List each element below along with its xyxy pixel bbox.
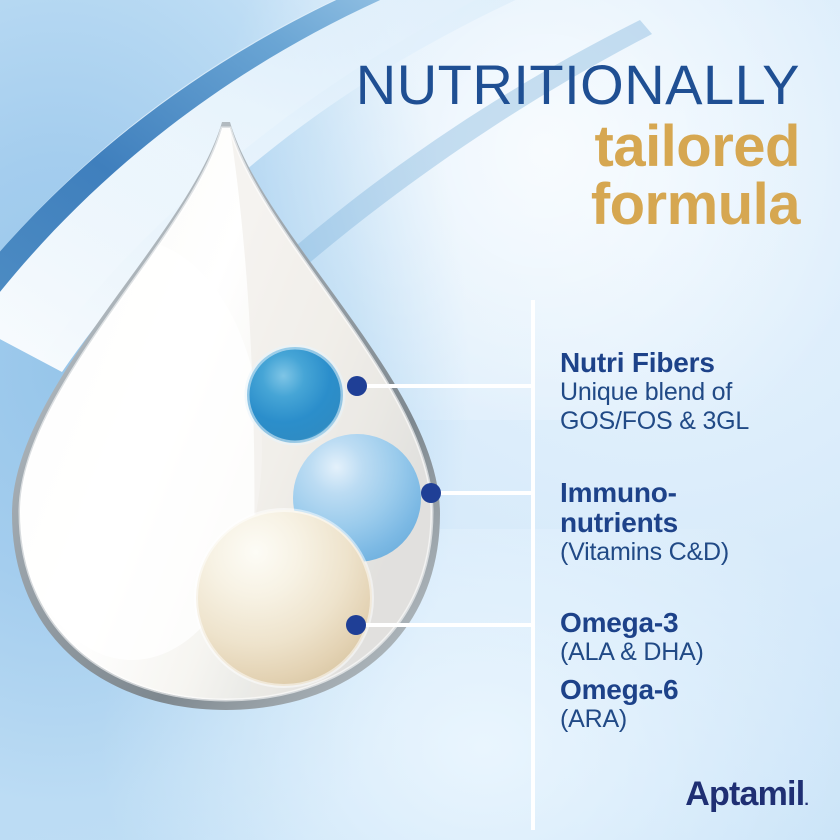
callout-sub-omega-6: (ARA) (560, 705, 704, 734)
callout-title-omega-6: Omega-6 (560, 675, 704, 705)
aptamil-logo: Aptamil. (685, 777, 808, 818)
callout-dot-nutri-fibers (347, 376, 367, 396)
callout-omega: Omega-3 (ALA & DHA) Omega-6 (ARA) (560, 608, 704, 734)
callout-title-omega-3: Omega-3 (560, 608, 704, 638)
callout-dot-omega (346, 615, 366, 635)
callout-immuno-nutrients: Immuno- nutrients (Vitamins C&D) (560, 478, 729, 567)
callout-title-immuno-line2: nutrients (560, 508, 729, 538)
callout-title-nutri-fibers: Nutri Fibers (560, 348, 749, 378)
callout-sub1-nutri-fibers: Unique blend of (560, 378, 749, 407)
callout-dot-immuno (421, 483, 441, 503)
callout-labels: Nutri Fibers Unique blend of GOS/FOS & 3… (560, 0, 840, 840)
callout-nutri-fibers: Nutri Fibers Unique blend of GOS/FOS & 3… (560, 348, 749, 436)
callout-title-immuno-line1: Immuno- (560, 478, 729, 508)
callout-sub-omega-3: (ALA & DHA) (560, 638, 704, 667)
poster-canvas: NUTRITIONALLY tailored formula Nutri Fib… (0, 0, 840, 840)
aptamil-trademark: . (804, 792, 808, 809)
aptamil-logo-text: Aptamil (685, 775, 804, 813)
callout-sub1-immuno: (Vitamins C&D) (560, 538, 729, 567)
callout-sub2-nutri-fibers: GOS/FOS & 3GL (560, 407, 749, 436)
